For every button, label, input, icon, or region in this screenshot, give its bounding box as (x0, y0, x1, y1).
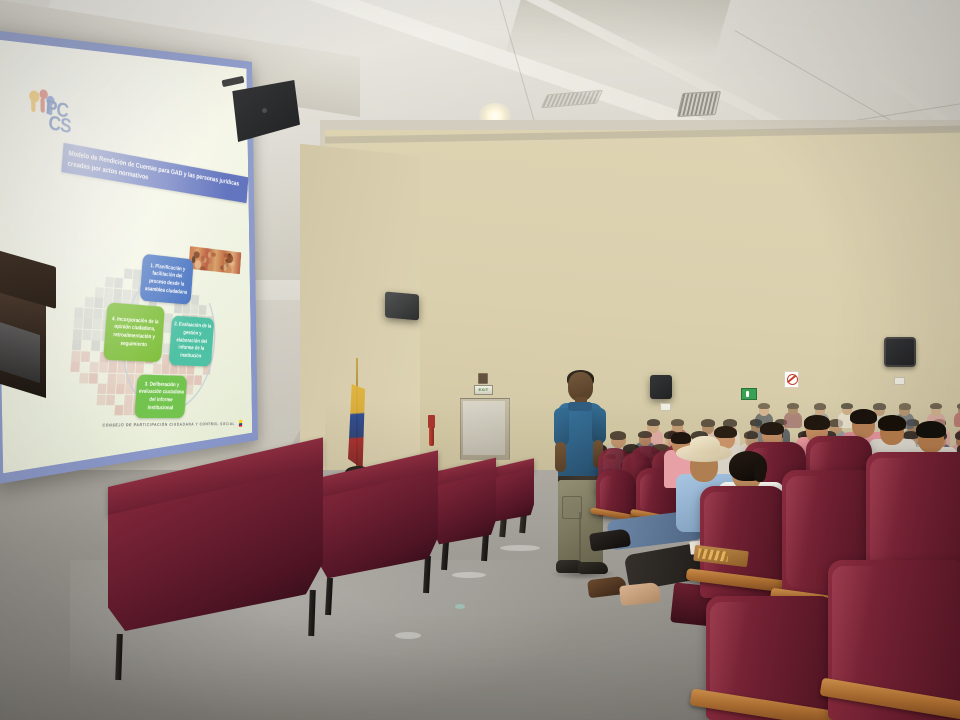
auditorium-photo: PC CS Modelo de Rendición de Cuentas par… (0, 0, 960, 720)
floor-speck-3 (500, 545, 540, 551)
emergency-exit-sign (741, 388, 757, 400)
wall-plate-right (894, 377, 905, 385)
lectern (0, 258, 56, 388)
ecuador-flag-stand (344, 358, 370, 478)
extinguisher-body (429, 427, 434, 446)
wall-plate-left (660, 403, 671, 411)
ceiling-access-hatch (541, 90, 603, 109)
window-panel (463, 401, 505, 455)
sandal-icon (619, 582, 661, 606)
projected-slide: PC CS Modelo de Rendición de Cuentas par… (0, 39, 252, 473)
speaker-cone-icon (262, 108, 267, 113)
projection-screen: PC CS Modelo de Rendición de Cuentas par… (0, 29, 258, 484)
wall-speaker-mid-right (650, 375, 672, 399)
air-vent-icon (677, 91, 721, 117)
ceiling-drop-section (503, 0, 730, 60)
exit-sign-label: EXIT (475, 386, 492, 394)
wall-speaker-right (884, 337, 916, 367)
screen-glare (0, 39, 252, 473)
presenter-collar (568, 402, 592, 411)
presenter-sleeve-left (554, 408, 569, 446)
presenter-sleeve-right (592, 408, 606, 444)
running-man-icon (746, 391, 749, 397)
exit-sign: EXIT (474, 385, 493, 395)
flag-cloth (348, 384, 365, 469)
no-smoking-sign (784, 371, 799, 388)
floor-speck-2 (452, 572, 486, 578)
presenter-arm-left (555, 442, 566, 472)
floor-speck-1 (395, 632, 421, 639)
presenter-shoe-right (578, 562, 608, 574)
floor-highlight (455, 604, 465, 609)
wall-speaker-center (385, 292, 419, 321)
fire-extinguisher-icon (428, 415, 435, 446)
emergency-light-icon (478, 373, 488, 384)
presenter-leg-split (579, 512, 581, 564)
